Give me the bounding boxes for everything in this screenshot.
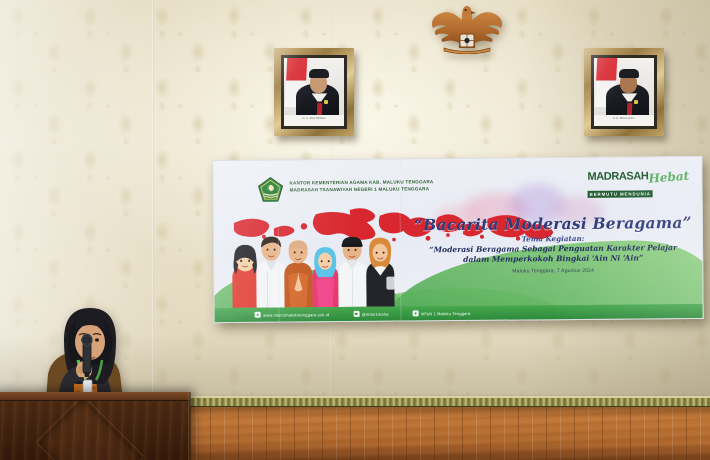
event-banner: KANTOR KEMENTERIAN AGAMA KAB. MALUKU TEN…: [212, 156, 703, 323]
facebook-icon: [413, 310, 419, 316]
vice-president-caption-line1: K.H. Ma'ruf Amin: [594, 115, 654, 121]
instagram-icon: [353, 311, 359, 317]
kemenag-logo-icon: [257, 177, 283, 204]
podium-front-face: [0, 401, 190, 460]
banner-title: “Bacarita Moderasi Beragama”: [410, 213, 696, 234]
woman-speaker-at-podium: [28, 300, 158, 400]
photo-scene: H. Ir. Joko Widodo K.H. Ma'ruf Amin: [0, 0, 710, 460]
podium-top-edge: [0, 392, 190, 401]
globe-icon: [255, 312, 261, 318]
madrasah-hebat-logo: MADRASAH Hebat BERMUTU MENDUNIA: [587, 171, 691, 197]
footer-facebook: MTsN 1 Maluku Tenggara: [413, 310, 471, 317]
vice-president-portrait-frame: K.H. Ma'ruf Amin: [584, 48, 664, 136]
wooden-podium: [0, 392, 190, 460]
banner-footer-bar: www.mtsn1malukutenggara.sch.id @mtsn1mal…: [215, 304, 703, 322]
bermutu-mendunia-tagline: BERMUTU MENDUNIA: [588, 190, 653, 198]
president-portrait-frame: H. Ir. Joko Widodo: [274, 48, 354, 136]
footer-instagram: @mtsn1malra: [353, 311, 388, 317]
organization-names: KANTOR KEMENTERIAN AGAMA KAB. MALUKU TEN…: [289, 177, 539, 194]
podium-wood-grain: [0, 401, 190, 460]
podium-side-edge: [188, 392, 191, 460]
footer-website-text: www.mtsn1malukutenggara.sch.id: [263, 312, 329, 318]
vice-president-portrait: K.H. Ma'ruf Amin: [594, 58, 654, 126]
footer-facebook-text: MTsN 1 Maluku Tenggara: [421, 310, 470, 315]
president-caption-line1: H. Ir. Joko Widodo: [284, 115, 344, 121]
hebat-script-text: Hebat: [648, 169, 690, 186]
garuda-pancasila-emblem: [430, 2, 504, 54]
footer-instagram-text: @mtsn1malra: [362, 311, 389, 316]
interfaith-figures-illustration: [222, 218, 419, 308]
president-portrait: H. Ir. Joko Widodo: [284, 58, 344, 126]
footer-website: www.mtsn1malukutenggara.sch.id: [255, 311, 330, 318]
